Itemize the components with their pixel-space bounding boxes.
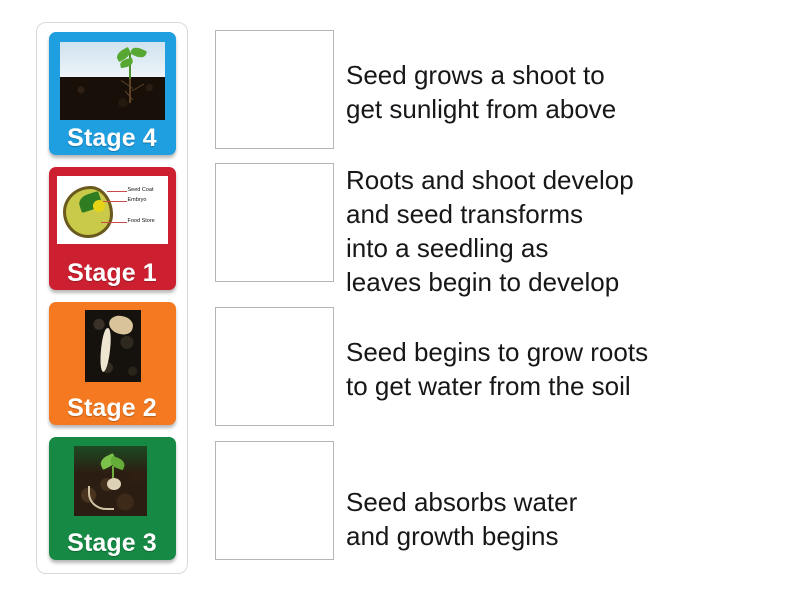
tile-label: Stage 3 — [49, 528, 176, 558]
tile-label: Stage 2 — [49, 393, 176, 423]
stage-2-image — [85, 310, 141, 382]
dropzone-4[interactable] — [215, 441, 334, 560]
dropzone-3[interactable] — [215, 307, 334, 426]
draggable-tile-stage-2[interactable]: Stage 2 — [49, 302, 176, 425]
answer-text-1: Seed grows a shoot to get sunlight from … — [346, 30, 616, 126]
answer-text-2: Roots and shoot develop and seed transfo… — [346, 163, 634, 299]
tile-label: Stage 4 — [49, 123, 176, 153]
draggable-tile-stage-3[interactable]: Stage 3 — [49, 437, 176, 560]
food-store-caption: Food Store — [128, 218, 155, 224]
answer-row: Seed begins to grow roots to get water f… — [215, 307, 648, 426]
dropzone-1[interactable] — [215, 30, 334, 149]
callout-line — [103, 201, 127, 202]
embryo-caption: Embryo — [128, 197, 147, 203]
stage-4-image — [60, 42, 165, 120]
root-shape — [88, 486, 114, 510]
answer-row: Seed grows a shoot to get sunlight from … — [215, 30, 616, 149]
draggable-tile-stage-1[interactable]: Seed Coat Embryo Food Store Stage 1 — [49, 167, 176, 290]
tile-tray: Stage 4 Seed Coat Embryo Food Store Stag… — [36, 22, 188, 574]
answer-text-4: Seed absorbs water and growth begins — [346, 441, 577, 553]
sky-region — [60, 42, 165, 77]
radicle-shape — [98, 328, 112, 373]
answer-row: Roots and shoot develop and seed transfo… — [215, 163, 634, 299]
draggable-tile-stage-4[interactable]: Stage 4 — [49, 32, 176, 155]
stage-3-image — [74, 446, 147, 516]
answer-row: Seed absorbs water and growth begins — [215, 441, 577, 560]
answer-text-3: Seed begins to grow roots to get water f… — [346, 307, 648, 403]
callout-line — [101, 222, 127, 223]
stage-1-image: Seed Coat Embryo Food Store — [57, 176, 168, 244]
soil-region — [60, 77, 165, 120]
root-shape — [129, 79, 131, 103]
callout-line — [107, 191, 127, 192]
tile-label: Stage 1 — [49, 258, 176, 288]
seed-coat-caption: Seed Coat — [128, 187, 154, 193]
seed-shape — [107, 314, 134, 337]
dropzone-2[interactable] — [215, 163, 334, 282]
